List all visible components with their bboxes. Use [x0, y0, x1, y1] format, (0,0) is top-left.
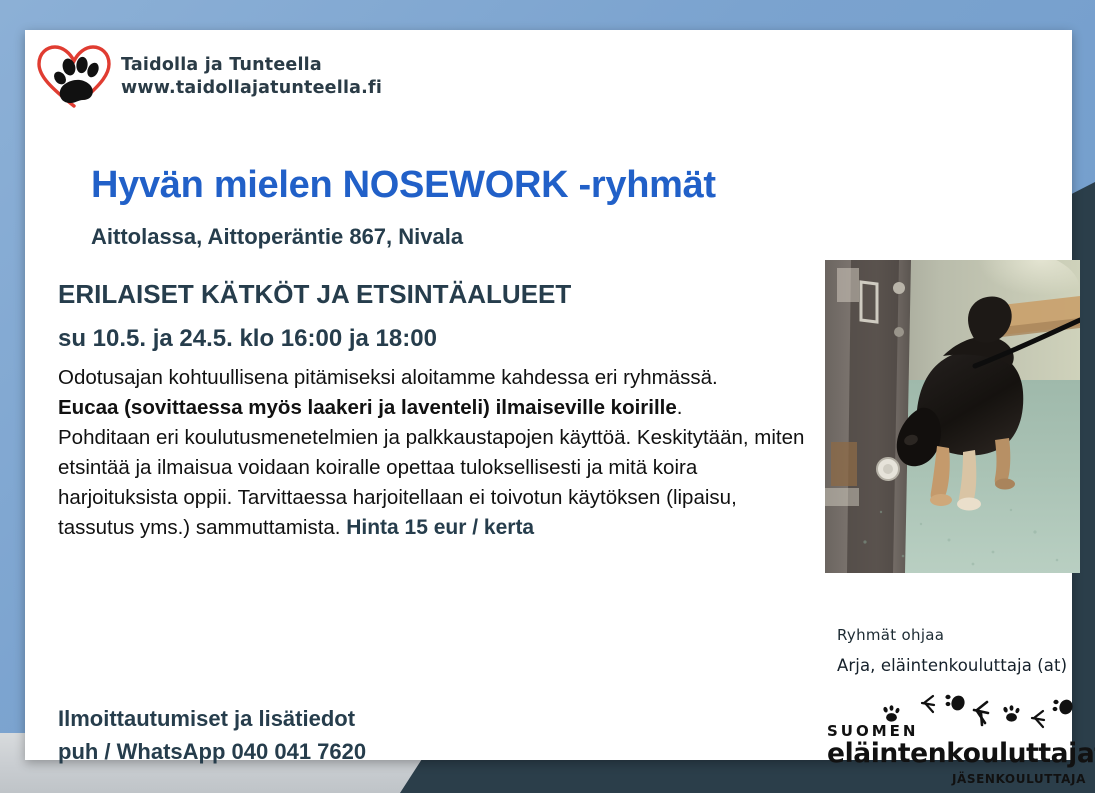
session-dates: su 10.5. ja 24.5. klo 16:00 ja 18:00	[58, 325, 437, 353]
body-paragraph-2-bold: Eucaa (sovittaessa myös laakeri ja laven…	[58, 396, 677, 419]
body-paragraph-2-tail: .	[677, 396, 683, 419]
dog-sniffing-cabinet-photo	[825, 260, 1080, 573]
association-member-badge: JÄSENKOULUTTAJA	[952, 772, 1086, 786]
instructor-label: Ryhmät ohjaa	[837, 626, 1087, 644]
page-title: Hyvän mielen NOSEWORK -ryhmät	[91, 164, 716, 207]
association-name: eläintenkouluttajat ry	[827, 738, 1095, 769]
brand-name: Taidolla ja Tunteella	[121, 54, 382, 77]
instructor-name: Arja, eläintenkouluttaja (at)	[837, 656, 1087, 675]
poster-card: Taidolla ja Tunteella www.taidollajatunt…	[25, 30, 1072, 760]
contact-line-2[interactable]: puh / WhatsApp 040 041 7620	[58, 735, 678, 768]
poster-canvas: Taidolla ja Tunteella www.taidollajatunt…	[0, 0, 1095, 793]
price-label: Hinta 15 eur / kerta	[346, 516, 534, 539]
body-copy: Odotusajan kohtuullisena pitämiseksi alo…	[58, 363, 818, 543]
body-paragraph-2: Eucaa (sovittaessa myös laakeri ja laven…	[58, 393, 818, 423]
body-paragraph-3: Pohditaan eri koulutusmenetelmien ja pal…	[58, 423, 818, 543]
instructor-block: Ryhmät ohjaa Arja, eläintenkouluttaja (a…	[837, 626, 1087, 675]
page-subtitle: Aittolassa, Aittoperäntie 867, Nivala	[91, 224, 463, 250]
section-heading: ERILAISET KÄTKÖT JA ETSINTÄALUEET	[58, 279, 571, 310]
heart-paw-icon	[33, 42, 115, 112]
contact-line-1: Ilmoittautumiset ja lisätiedot	[58, 702, 678, 735]
contact-block: Ilmoittautumiset ja lisätiedot puh / Wha…	[58, 702, 678, 769]
body-paragraph-1: Odotusajan kohtuullisena pitämiseksi alo…	[58, 363, 818, 393]
brand-website[interactable]: www.taidollajatunteella.fi	[121, 77, 382, 100]
brand-logo: Taidolla ja Tunteella www.taidollajatunt…	[33, 42, 382, 112]
